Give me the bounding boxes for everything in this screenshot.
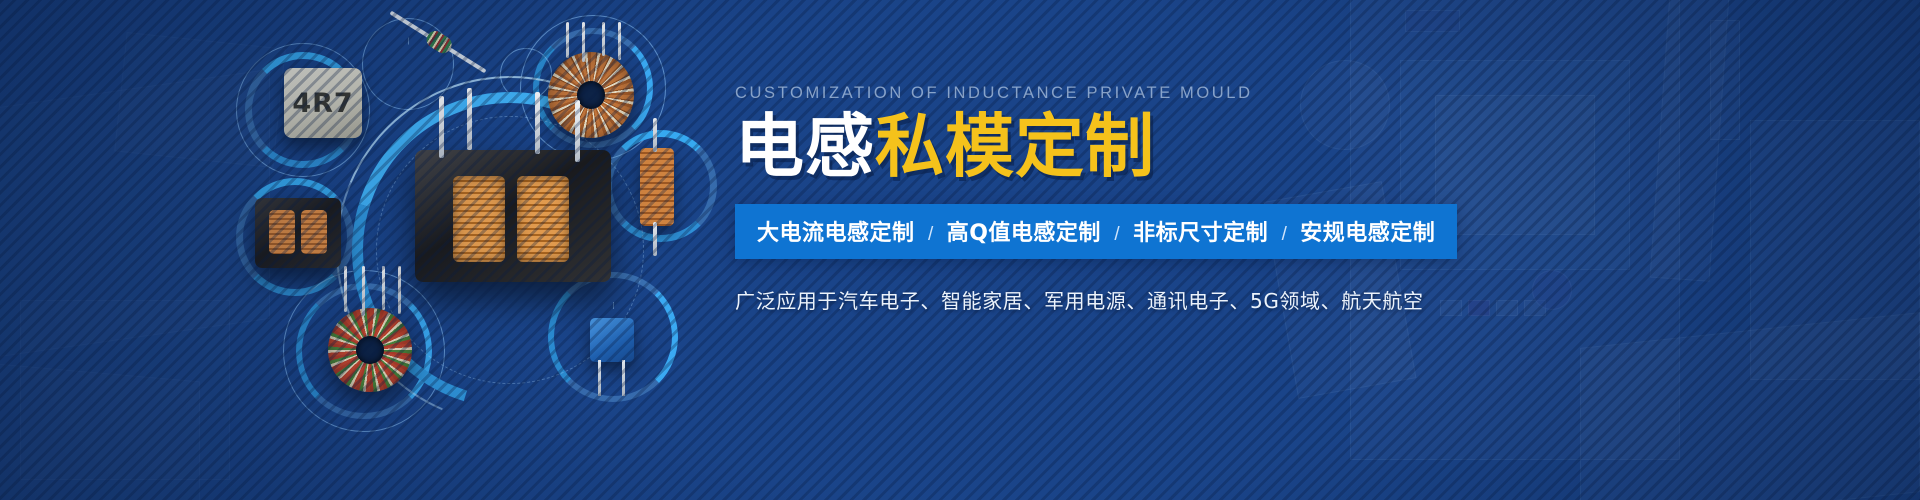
feature-item-4: 安规电感定制 — [1300, 221, 1435, 246]
feature-item-2: 高Q值电感定制 — [947, 221, 1101, 246]
banner-eyebrow: CUSTOMIZATION OF INDUCTANCE PRIVATE MOUL… — [735, 84, 1665, 103]
feature-separator-2: / — [1105, 224, 1128, 245]
banner-description: 广泛应用于汽车电子、智能家居、军用电源、通讯电子、5G领域、航天航空 — [735, 285, 1665, 314]
page-title: 电感私模定制 — [735, 112, 1665, 184]
inductance-custom-mould-banner: 4R7 — [0, 0, 1920, 500]
banner-text-block: CUSTOMIZATION OF INDUCTANCE PRIVATE MOUL… — [735, 84, 1665, 314]
headline-white-part: 电感 — [735, 107, 875, 187]
feature-item-3: 非标尺寸定制 — [1133, 221, 1268, 246]
feature-separator-3: / — [1273, 224, 1296, 245]
feature-list-bar: 大电流电感定制 / 高Q值电感定制 / 非标尺寸定制 / 安规电感定制 — [735, 204, 1457, 259]
feature-item-1: 大电流电感定制 — [757, 221, 915, 246]
headline-yellow-part: 私模定制 — [875, 107, 1155, 187]
feature-separator-1: / — [919, 224, 942, 245]
